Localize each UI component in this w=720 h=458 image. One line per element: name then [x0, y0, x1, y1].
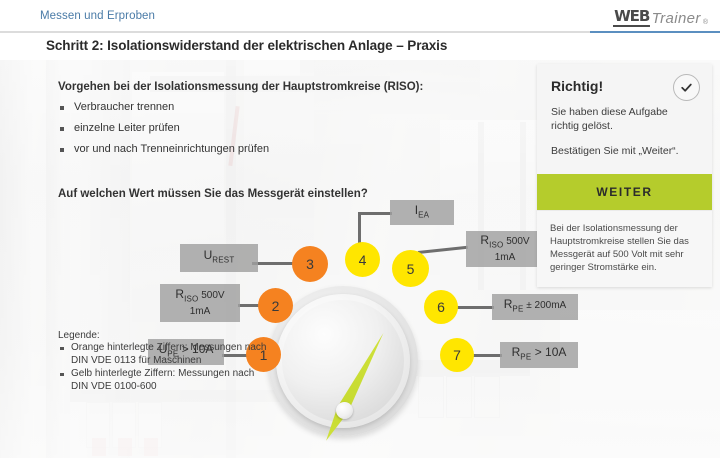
dial-marker-3-label: 3 — [306, 256, 314, 272]
legend-item-line1: Orange hinterlegte Ziffern: Messungen na… — [71, 342, 267, 353]
dial-label-6-rest: ± 200mA — [524, 300, 567, 311]
legend-item: Gelb hinterlegte Ziffern: Messungen nach… — [58, 368, 267, 393]
legend-title: Legende: — [58, 330, 267, 341]
header-divider-accent — [590, 31, 720, 33]
feedback-paragraph-2: Bestätigen Sie mit „Weiter“. — [551, 144, 698, 158]
dial-label-2-main: R — [175, 287, 184, 301]
feedback-panel: Richtig! Sie haben diese Aufgabe richtig… — [537, 64, 712, 287]
measuring-dial-diagram: 1 2 3 4 5 6 7 UPE > 10A RISO 500V 1mA UR… — [0, 60, 545, 458]
dial-marker-7-label: 7 — [453, 347, 461, 363]
dial-label-3-sub: REST — [212, 256, 234, 265]
dial-label-5-rest: 500V — [503, 236, 529, 247]
dial-label-2-line2: 1mA — [190, 305, 211, 318]
logo-web-text: WEB — [613, 9, 650, 27]
dial-label-5: RISO 500V 1mA — [466, 231, 544, 267]
dial-label-7: RPE > 10A — [500, 342, 578, 368]
connector-line-5 — [418, 246, 468, 254]
feedback-explanation: Bei der Isolationsmessung der Hauptstrom… — [537, 210, 712, 287]
connector-line-7 — [472, 354, 502, 357]
dial-label-6-sub: PE — [512, 305, 523, 314]
page-title: Schritt 2: Isolationswiderstand der elek… — [46, 38, 447, 53]
legend-list: Orange hinterlegte Ziffern: Messungen na… — [58, 342, 267, 393]
legend-item-line2: DIN VDE 0100-600 — [71, 381, 157, 392]
dial-label-5-main: R — [480, 233, 489, 247]
dial-marker-7[interactable]: 7 — [440, 338, 474, 372]
feedback-paragraph-1: Sie haben diese Aufgabe richtig gelöst. — [551, 105, 698, 133]
feedback-panel-body: Richtig! Sie haben diese Aufgabe richtig… — [537, 64, 712, 174]
logo-trainer-text: Trainer — [652, 11, 701, 27]
dial-label-2-sub: ISO — [184, 294, 198, 303]
dial-marker-6[interactable]: 6 — [424, 290, 458, 324]
dial-label-5-sub: ISO — [489, 240, 503, 249]
dial-label-2-rest: 500V — [198, 290, 224, 301]
dial-label-3: UREST — [180, 244, 258, 272]
dial-label-4: IEA — [390, 200, 454, 225]
dial-marker-5[interactable]: 5 — [392, 250, 429, 287]
dial-label-4-sub: EA — [418, 210, 429, 219]
elearning-slide: Messen und Erproben WEB Trainer ® Schrit… — [0, 0, 720, 458]
connector-line-4-horizontal — [358, 212, 392, 215]
logo-registered-icon: ® — [703, 18, 708, 27]
app-header: Messen und Erproben WEB Trainer ® — [0, 0, 720, 32]
dial-marker-4-label: 4 — [359, 252, 367, 268]
weiter-button[interactable]: WEITER — [537, 174, 712, 210]
dial-center-hub — [336, 402, 353, 419]
dial-marker-2[interactable]: 2 — [258, 288, 293, 323]
dial-marker-4[interactable]: 4 — [345, 242, 380, 277]
feedback-explanation-text: Bei der Isolationsmessung der Hauptstrom… — [550, 222, 699, 274]
check-icon — [673, 74, 700, 101]
dial-label-7-rest: > 10A — [531, 345, 566, 359]
legend-item-line1: Gelb hinterlegte Ziffern: Messungen nach — [71, 368, 254, 379]
dial-label-7-sub: PE — [520, 353, 531, 362]
legend-item: Orange hinterlegte Ziffern: Messungen na… — [58, 342, 267, 367]
dial-label-7-main: R — [512, 345, 521, 359]
dial-label-5-line2: 1mA — [495, 251, 516, 264]
dial-label-3-main: U — [204, 248, 213, 262]
dial-marker-6-label: 6 — [437, 299, 445, 315]
dial-marker-3[interactable]: 3 — [292, 246, 328, 282]
dial-marker-5-label: 5 — [407, 261, 415, 277]
dial-label-6: RPE ± 200mA — [492, 294, 578, 320]
connector-line-6 — [456, 306, 494, 309]
dial-label-2: RISO 500V 1mA — [160, 284, 240, 322]
webtrainer-logo: WEB Trainer ® — [613, 7, 708, 27]
dial-marker-2-label: 2 — [272, 298, 280, 314]
legend-item-line2: DIN VDE 0113 für Maschinen — [71, 355, 201, 366]
breadcrumb[interactable]: Messen und Erproben — [40, 10, 155, 22]
legend: Legende: Orange hinterlegte Ziffern: Mes… — [58, 330, 267, 394]
